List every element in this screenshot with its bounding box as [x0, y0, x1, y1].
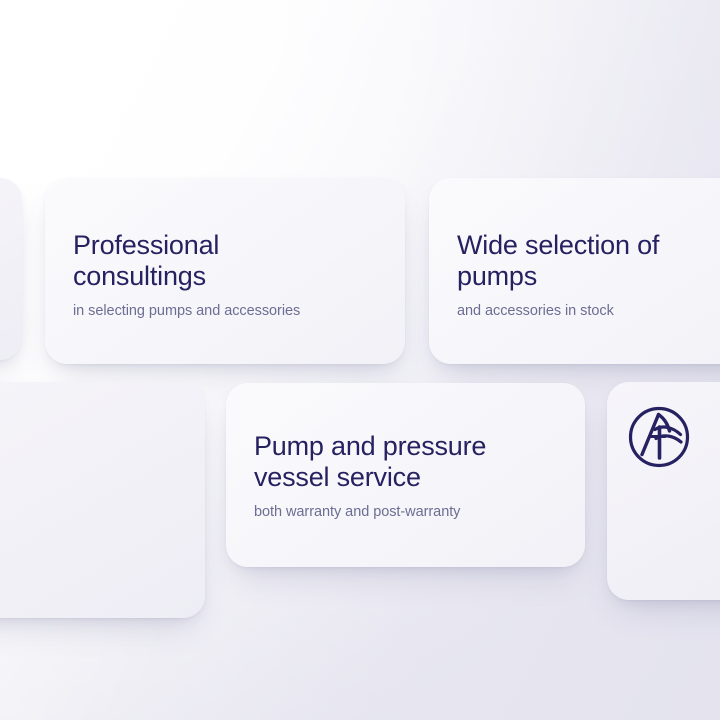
- feature-card-partial-left[interactable]: [0, 178, 22, 360]
- company-monogram-logo-icon: [627, 405, 691, 469]
- card-subtitle: in selecting pumps and accessories: [73, 302, 377, 320]
- card-subtitle: and accessories in stock: [457, 302, 720, 320]
- card-subtitle: both warranty and post-warranty: [254, 503, 557, 521]
- card-body: Wide selection of pumps and accessories …: [429, 230, 720, 320]
- card-title: Wide selection of pumps: [457, 230, 720, 292]
- card-body: Professional consultings in selecting pu…: [45, 230, 405, 320]
- feature-card-pump-and-pressure-vessel-service[interactable]: Pump and pressure vessel service both wa…: [226, 383, 585, 567]
- card-title: Professional consultings: [73, 230, 377, 292]
- feature-card-company-logo[interactable]: [607, 382, 720, 600]
- feature-card-empty-bottom-left[interactable]: [0, 382, 205, 618]
- feature-card-wide-selection-of-pumps[interactable]: Wide selection of pumps and accessories …: [429, 178, 720, 364]
- page-canvas: Professional consultings in selecting pu…: [0, 0, 720, 720]
- feature-card-professional-consultings[interactable]: Professional consultings in selecting pu…: [45, 178, 405, 364]
- card-body: Pump and pressure vessel service both wa…: [226, 431, 585, 521]
- card-title: Pump and pressure vessel service: [254, 431, 557, 493]
